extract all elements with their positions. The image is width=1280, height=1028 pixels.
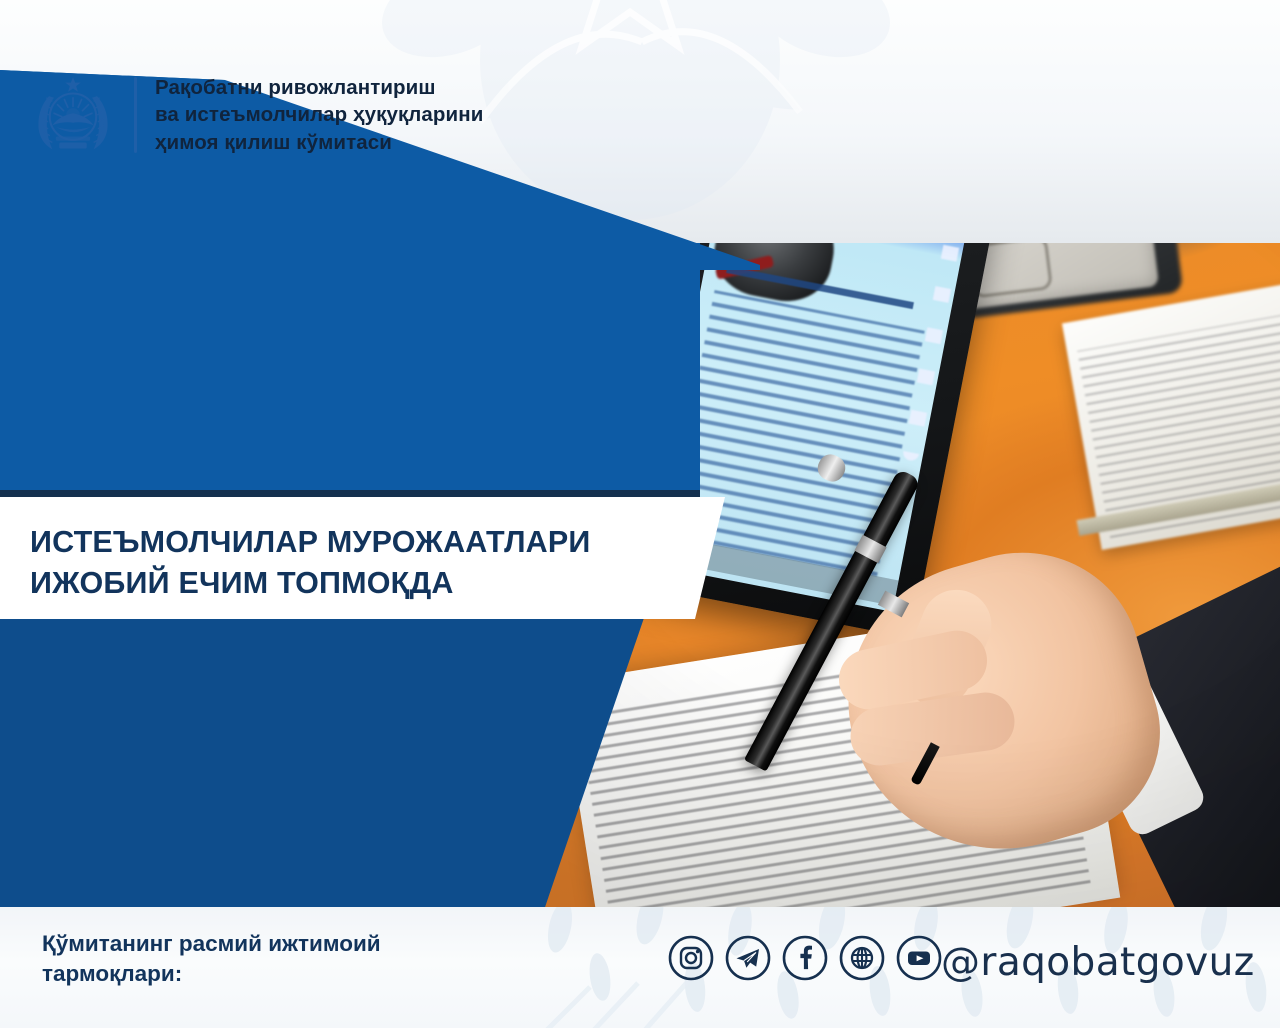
social-handle[interactable]: @raqobatgovuz: [941, 940, 1255, 985]
facebook-icon[interactable]: [782, 935, 828, 981]
uzbekistan-state-emblem-icon: [30, 72, 116, 158]
social-media-card: Рақобатни ривожлантириш ва истеъмолчилар…: [0, 0, 1280, 1028]
headline-text: ИСТЕЪМОЛЧИЛАР МУРОЖААТЛАРИ ИЖОБИЙ ЕЧИМ Т…: [30, 522, 591, 603]
social-links: [668, 935, 942, 981]
telegram-icon[interactable]: [725, 935, 771, 981]
website-globe-icon[interactable]: [839, 935, 885, 981]
organization-name: Рақобатни ривожлантириш ва истеъмолчилар…: [155, 74, 483, 156]
youtube-icon[interactable]: [896, 935, 942, 981]
social-networks-label: Қўмитанинг расмий ижтимоий тармоқлари:: [42, 929, 381, 988]
brand-lockup: Рақобатни ривожлантириш ва истеъмолчилар…: [30, 72, 483, 158]
instagram-icon[interactable]: [668, 935, 714, 981]
brand-divider: [134, 77, 137, 153]
